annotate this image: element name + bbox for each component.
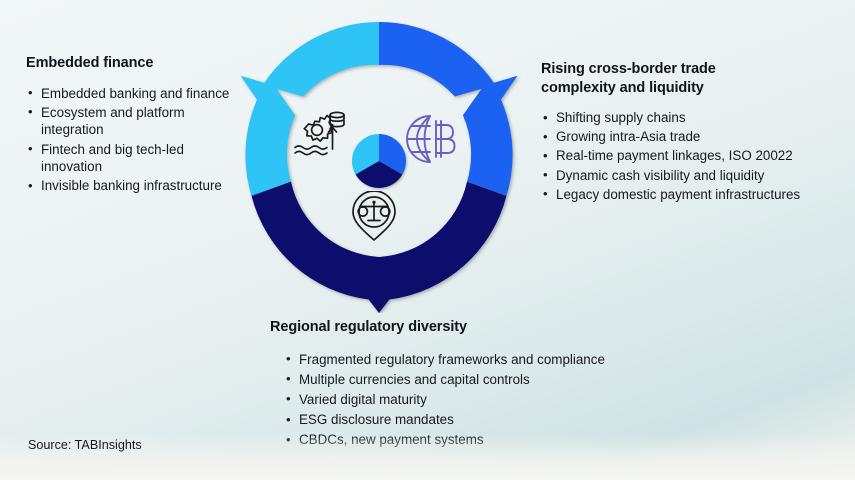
slide-canvas: Embedded finance Embedded banking and fi… (0, 0, 855, 480)
list-item: Fintech and big tech-led innovation (26, 141, 241, 176)
source-caption: Source: TABInsights (28, 438, 142, 452)
list-item: Real-time payment linkages, ISO 20022 (541, 147, 853, 165)
list-item: Growing intra-Asia trade (541, 128, 853, 146)
list-item: Legacy domestic payment infrastructures (541, 186, 853, 204)
cross-border-trade-icon (403, 112, 457, 166)
list-item: Dynamic cash visibility and liquidity (541, 167, 853, 185)
bullet-list-cross-border-trade: Shifting supply chains Growing intra-Asi… (541, 109, 853, 203)
panel-cross-border-trade: Rising cross-border trade complexity and… (541, 60, 853, 205)
panel-title-embedded-finance: Embedded finance (26, 54, 241, 73)
list-item: Multiple currencies and capital controls (284, 371, 670, 389)
regulatory-icon (351, 191, 397, 241)
list-item: Fragmented regulatory frameworks and com… (284, 351, 670, 369)
panel-title-cross-border-trade: Rising cross-border trade complexity and… (541, 60, 853, 97)
cycle-diagram (231, 13, 527, 313)
list-item: ESG disclosure mandates (284, 411, 670, 429)
list-item: CBDCs, new payment systems (284, 431, 670, 449)
list-item: Invisible banking infrastructure (26, 177, 241, 195)
list-item: Shifting supply chains (541, 109, 853, 127)
list-item: Embedded banking and finance (26, 85, 241, 103)
list-item: Varied digital maturity (284, 391, 670, 409)
bullet-list-regulatory-diversity: Fragmented regulatory frameworks and com… (270, 351, 670, 449)
bullet-list-embedded-finance: Embedded banking and finance Ecosystem a… (26, 85, 241, 196)
panel-regional-regulatory-diversity: Regional regulatory diversity Fragmented… (270, 318, 670, 451)
embedded-finance-icon (291, 108, 347, 160)
list-item: Ecosystem and platform integration (26, 104, 241, 139)
panel-title-line-2: complexity and liquidity (541, 80, 704, 96)
panel-title-regulatory-diversity: Regional regulatory diversity (270, 318, 670, 337)
panel-embedded-finance: Embedded finance Embedded banking and fi… (26, 54, 241, 197)
inner-pie-hub (352, 134, 406, 188)
panel-title-line-1: Rising cross-border trade (541, 61, 716, 77)
